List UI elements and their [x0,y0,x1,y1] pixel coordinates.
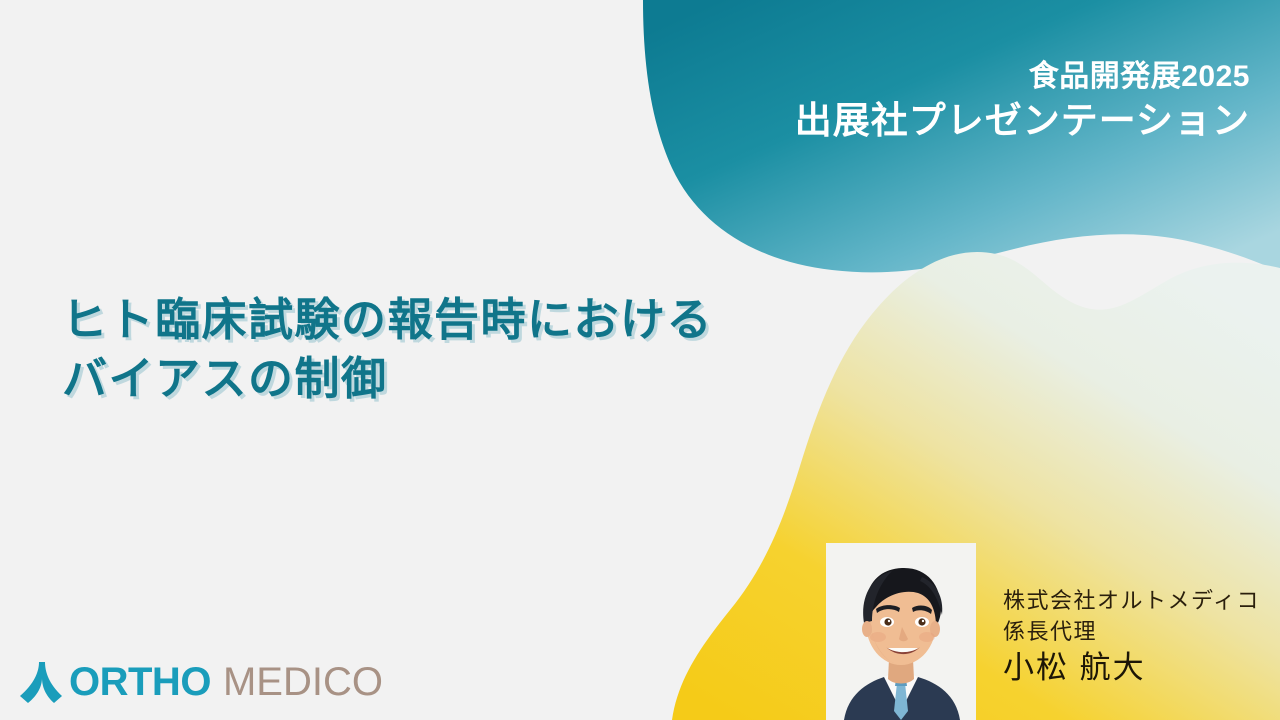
event-subtitle: 出展社プレゼンテーション [795,102,1250,139]
title-line-2: バイアスの制御 [62,349,713,408]
presentation-slide: 食品開発展2025 出展社プレゼンテーション ヒト臨床試験の報告時における バイ… [0,0,1280,720]
event-name: 食品開発展2025 [795,62,1250,92]
presenter-company: 株式会社オルトメディコ [1003,590,1260,612]
presenter-photo [826,543,976,720]
event-header: 食品開発展2025 出展社プレゼンテーション [795,62,1250,139]
presenter-role: 係長代理 [1003,621,1260,643]
person-mark-icon [18,660,64,704]
company-logo: ORTHO MEDICO [18,660,383,704]
logo-word-ortho: ORTHO [69,662,211,702]
presenter-portrait-illustration [826,543,976,720]
presenter-name: 小松 航大 [1003,652,1260,683]
logo-word-medico: MEDICO [223,662,383,702]
presenter-info: 株式会社オルトメディコ 係長代理 小松 航大 [1003,590,1260,683]
title-line-1: ヒト臨床試験の報告時における [62,290,713,349]
page-title: ヒト臨床試験の報告時における バイアスの制御 [62,290,713,409]
